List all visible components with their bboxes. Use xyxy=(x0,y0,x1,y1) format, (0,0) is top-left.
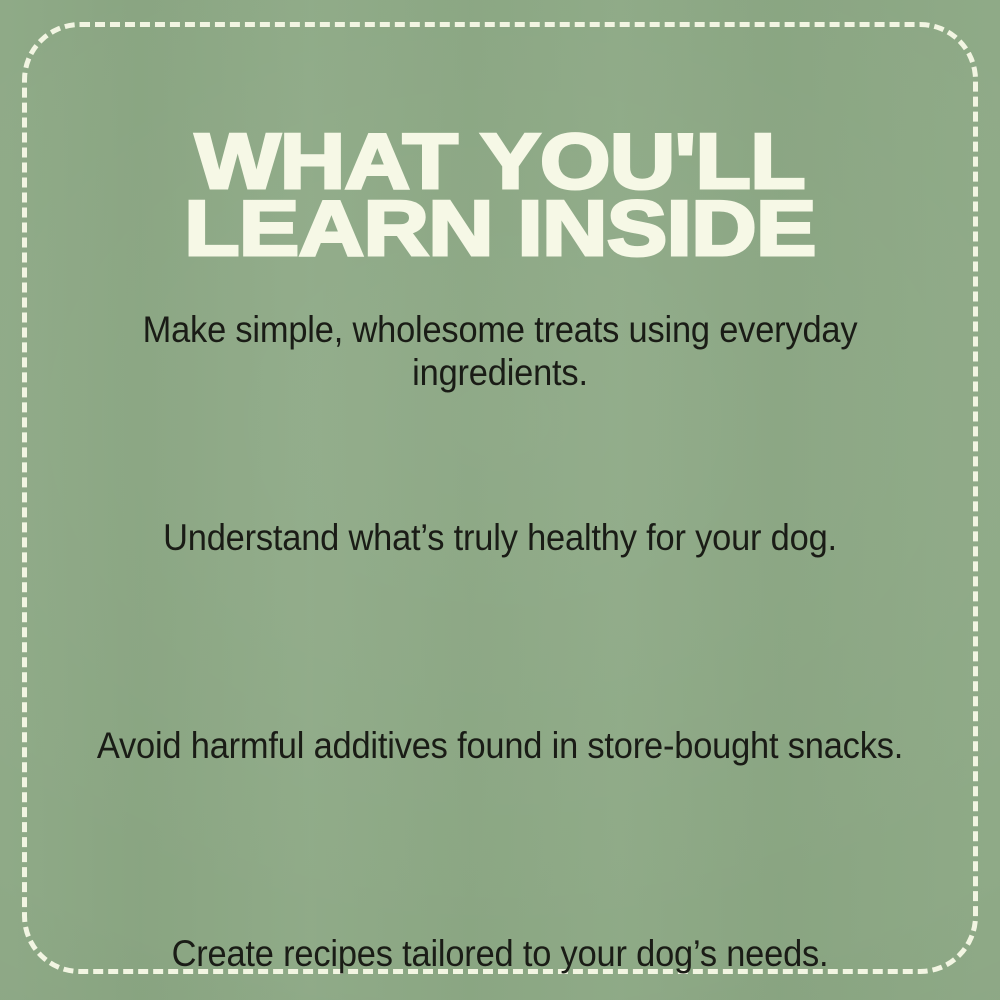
list-item: Understand what’s truly healthy for your… xyxy=(83,517,916,651)
page-title-line-2: LEARN INSIDE xyxy=(0,197,1000,259)
list-item: Make simple, wholesome treats using ever… xyxy=(83,309,916,443)
poster-canvas: WHAT YOU'LL LEARN INSIDE Make simple, wh… xyxy=(0,0,1000,1000)
list-item: Avoid harmful additives found in store-b… xyxy=(83,725,916,859)
page-title: WHAT YOU'LL LEARN INSIDE xyxy=(0,130,1000,259)
poster-content: WHAT YOU'LL LEARN INSIDE Make simple, wh… xyxy=(0,0,1000,1000)
learning-points-list: Make simple, wholesome treats using ever… xyxy=(52,272,948,1000)
list-item: Create recipes tailored to your dog’s ne… xyxy=(83,933,916,1000)
